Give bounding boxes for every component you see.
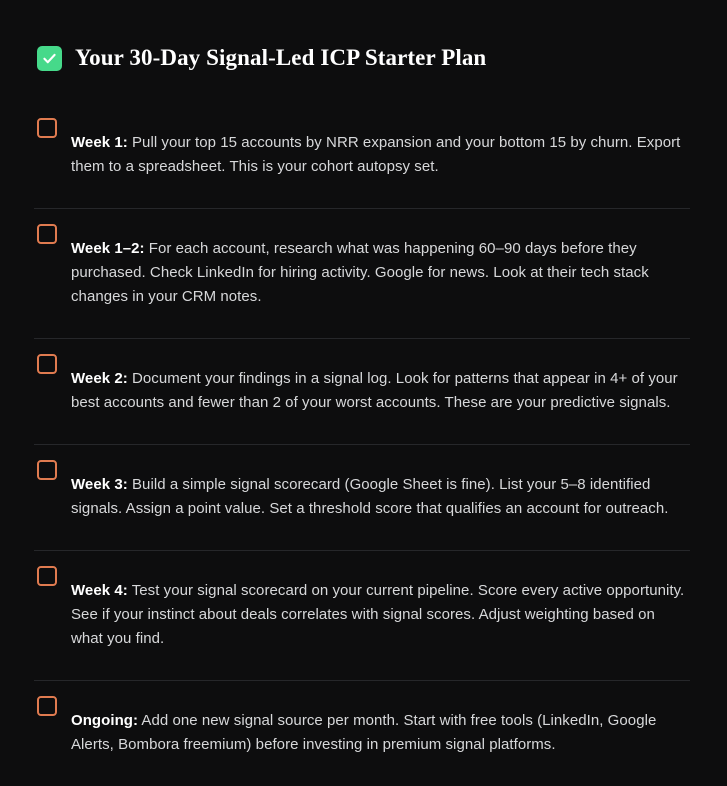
item-body: Document your findings in a signal log. …	[71, 370, 678, 411]
item-body: Pull your top 15 accounts by NRR expansi…	[71, 134, 680, 175]
page-title: Your 30-Day Signal-Led ICP Starter Plan	[75, 45, 486, 70]
list-item: Week 1–2: For each account, research wha…	[34, 208, 690, 338]
list-item: Week 2: Document your findings in a sign…	[34, 338, 690, 444]
item-body: Build a simple signal scorecard (Google …	[71, 476, 668, 517]
item-text: Week 2: Document your findings in a sign…	[71, 367, 690, 415]
item-text: Week 1: Pull your top 15 accounts by NRR…	[71, 131, 690, 179]
item-label: Week 4:	[71, 582, 128, 599]
item-checkbox[interactable]	[37, 118, 57, 138]
item-label: Ongoing:	[71, 712, 138, 729]
item-text: Week 4: Test your signal scorecard on yo…	[71, 579, 690, 651]
item-text: Week 3: Build a simple signal scorecard …	[71, 473, 690, 521]
item-body: Add one new signal source per month. Sta…	[71, 712, 656, 753]
item-text: Ongoing: Add one new signal source per m…	[71, 709, 690, 757]
checklist-header: Your 30-Day Signal-Led ICP Starter Plan	[37, 30, 690, 86]
item-checkbox[interactable]	[37, 460, 57, 480]
item-label: Week 2:	[71, 370, 128, 387]
list-item: Week 3: Build a simple signal scorecard …	[34, 444, 690, 550]
list-item: Week 1: Pull your top 15 accounts by NRR…	[34, 112, 690, 208]
item-checkbox[interactable]	[37, 224, 57, 244]
checklist-card: Your 30-Day Signal-Led ICP Starter Plan …	[0, 0, 727, 618]
item-label: Week 3:	[71, 476, 128, 493]
list-item: Ongoing: Add one new signal source per m…	[34, 680, 690, 786]
checklist-items: Week 1: Pull your top 15 accounts by NRR…	[34, 112, 690, 786]
item-label: Week 1:	[71, 134, 128, 151]
item-label: Week 1–2:	[71, 240, 145, 257]
item-body: For each account, research what was happ…	[71, 240, 649, 305]
list-item: Week 4: Test your signal scorecard on yo…	[34, 550, 690, 680]
item-text: Week 1–2: For each account, research wha…	[71, 237, 690, 309]
item-checkbox[interactable]	[37, 354, 57, 374]
green-check-icon	[37, 46, 62, 71]
item-checkbox[interactable]	[37, 696, 57, 716]
item-body: Test your signal scorecard on your curre…	[71, 582, 684, 647]
item-checkbox[interactable]	[37, 566, 57, 586]
